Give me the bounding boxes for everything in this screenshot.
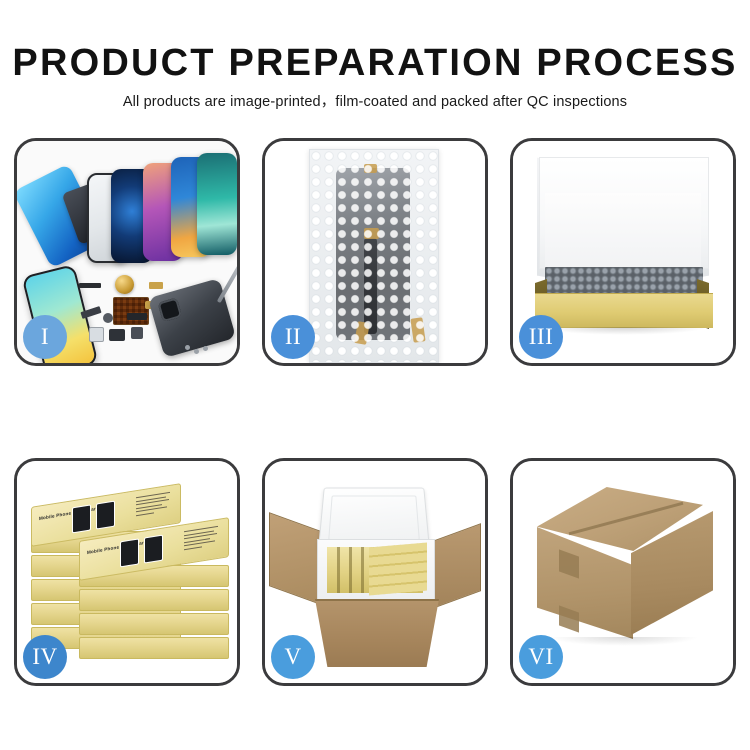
tape-piece-icon: [364, 228, 379, 239]
part-gold-flex-icon: [149, 282, 163, 289]
part-camera-module-icon: [109, 329, 125, 341]
header: PRODUCT PREPARATION PROCESS All products…: [0, 0, 750, 110]
drop-shadow: [549, 637, 699, 646]
bubble-wrap-bag-icon: [309, 149, 439, 363]
grey-bubble-wrap-icon: [545, 267, 703, 295]
screws-icon: [185, 345, 211, 355]
process-step-1[interactable]: I: [14, 138, 240, 366]
carton-right-flap-icon: [427, 523, 481, 611]
box-layer: [79, 637, 229, 659]
box-spec-lines: [184, 526, 220, 553]
page-subtitle: All products are image-printed，film-coat…: [0, 82, 750, 110]
box-spec-lines: [136, 492, 172, 519]
carton-front-panel-icon: [315, 599, 439, 667]
tape-piece-icon: [410, 317, 425, 342]
part-bar-icon: [79, 283, 101, 288]
process-step-3[interactable]: III: [510, 138, 736, 366]
phone-fan-group: [87, 155, 237, 265]
process-step-5[interactable]: V: [262, 458, 488, 686]
box-layer: [79, 589, 229, 611]
tape-piece-icon: [354, 321, 370, 345]
process-step-grid: I II: [14, 138, 736, 690]
drop-shadow: [541, 327, 707, 335]
product-preparation-process-page: PRODUCT PREPARATION PROCESS All products…: [0, 0, 750, 750]
yellow-boxes-stack-icon: [369, 542, 427, 595]
yellow-box-front-icon: [535, 293, 713, 328]
step-badge-3: III: [519, 315, 563, 359]
part-cable-icon: [127, 313, 147, 320]
step-badge-2: II: [271, 315, 315, 359]
step-badge-6: VI: [519, 635, 563, 679]
step-badge-5: V: [271, 635, 315, 679]
process-step-2[interactable]: II: [262, 138, 488, 366]
part-speaker-icon: [131, 327, 143, 339]
copper-coil-icon: [115, 275, 134, 294]
part-sim-tray-icon: [89, 327, 104, 342]
box-product-thumbnails: [72, 500, 118, 533]
phone-teal-wallpaper-icon: [197, 153, 237, 255]
process-step-4[interactable]: Mobile Phone Spare Parts Mobile Phone Sp…: [14, 458, 240, 686]
page-title: PRODUCT PREPARATION PROCESS: [0, 0, 750, 82]
box-product-thumbnails: [120, 534, 166, 567]
tape-piece-icon: [364, 164, 377, 173]
step-badge-1: I: [23, 315, 67, 359]
step-badge-4: IV: [23, 635, 67, 679]
process-step-6[interactable]: VI: [510, 458, 736, 686]
part-button-icon: [103, 313, 113, 323]
foam-sheet-icon: [545, 193, 701, 271]
logic-board-icon: [113, 297, 149, 325]
wrapped-flex-cable-icon: [364, 238, 377, 334]
box-layer: [79, 613, 229, 635]
